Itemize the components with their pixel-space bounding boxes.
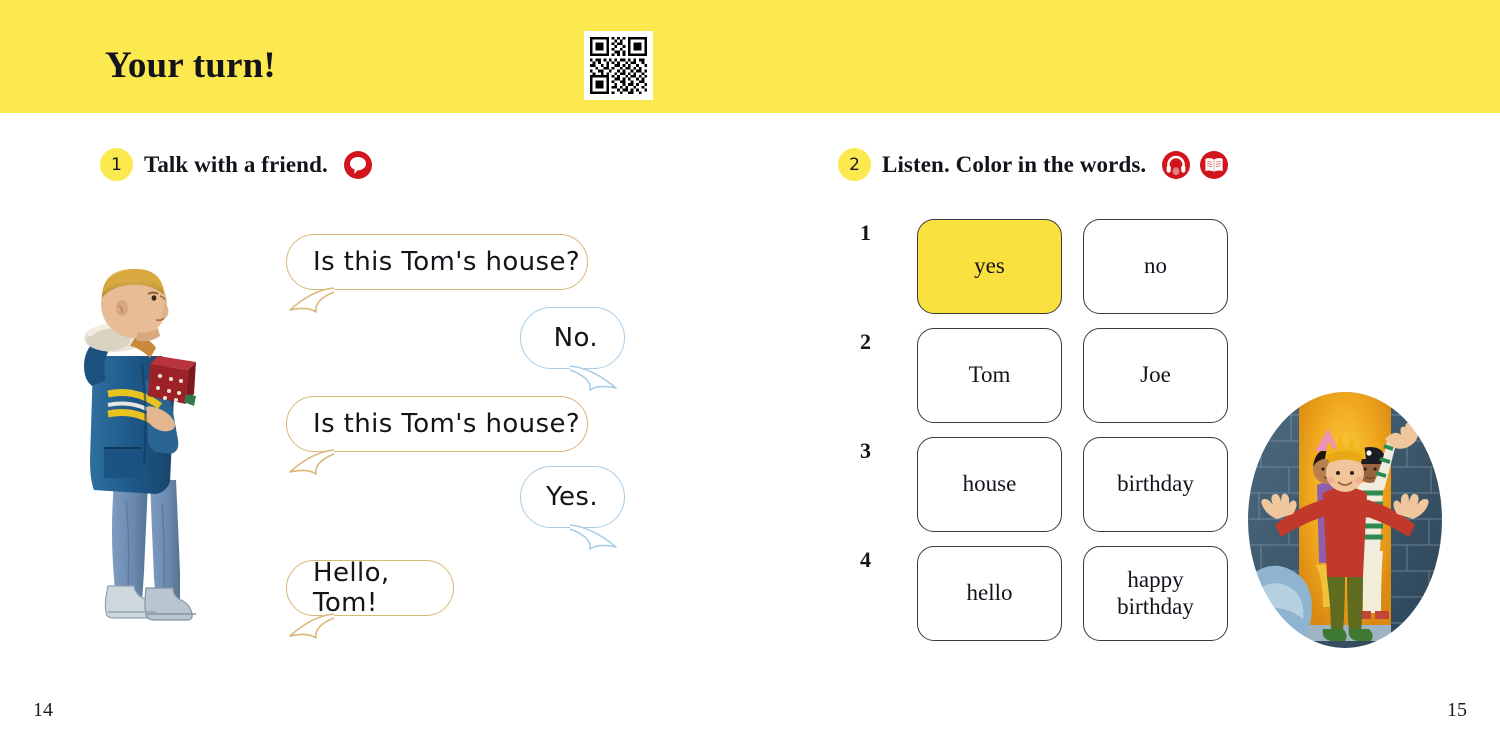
boy-with-present-illustration <box>78 268 238 636</box>
row-number: 4 <box>860 547 871 573</box>
dialogue-bubble: Is this Tom's house? <box>286 396 588 452</box>
activity-2-icons <box>1161 150 1229 180</box>
activity-1-label: Talk with a friend. <box>144 152 328 178</box>
bubble-tail-right-icon <box>556 523 626 557</box>
activity-2-number: 2 <box>838 148 871 181</box>
activity-1-number: 1 <box>100 148 133 181</box>
page-number-right: 15 <box>1447 699 1467 722</box>
row-number: 1 <box>860 220 871 246</box>
dialogue-bubble: Yes. <box>520 466 625 528</box>
dialogue-text: No. <box>554 323 598 353</box>
children-at-door-illustration <box>1245 389 1445 651</box>
dialogue-text: Hello, Tom! <box>313 558 453 618</box>
speech-bubble-icon <box>343 150 373 180</box>
page-number-left: 14 <box>33 699 53 722</box>
row-number: 2 <box>860 329 871 355</box>
bubble-tail-left-icon <box>286 448 356 482</box>
word-card[interactable]: Tom <box>917 328 1062 423</box>
word-card[interactable]: Joe <box>1083 328 1228 423</box>
activity-1-heading: 1 Talk with a friend. <box>100 148 373 181</box>
word-card[interactable]: no <box>1083 219 1228 314</box>
page-title: Your turn! <box>105 44 276 87</box>
headphones-icon <box>1161 150 1191 180</box>
dialogue-text: Yes. <box>546 482 598 512</box>
dialogue-bubble: No. <box>520 307 625 369</box>
dialogue-bubble: Hello, Tom! <box>286 560 454 616</box>
dialogue-text: Is this Tom's house? <box>313 247 580 277</box>
qr-code-icon <box>590 37 647 94</box>
word-card[interactable]: birthday <box>1083 437 1228 532</box>
word-card[interactable]: house <box>917 437 1062 532</box>
qr-code[interactable] <box>584 31 653 100</box>
activity-2-heading: 2 Listen. Color in the words. <box>838 148 1229 181</box>
activity-2-label: Listen. Color in the words. <box>882 152 1146 178</box>
open-book-icon <box>1199 150 1229 180</box>
bubble-tail-left-icon <box>286 286 356 320</box>
dialogue-text: Is this Tom's house? <box>313 409 580 439</box>
dialogue-bubble: Is this Tom's house? <box>286 234 588 290</box>
word-card[interactable]: happy birthday <box>1083 546 1228 641</box>
word-card[interactable]: yes <box>917 219 1062 314</box>
word-card[interactable]: hello <box>917 546 1062 641</box>
row-number: 3 <box>860 438 871 464</box>
bubble-tail-right-icon <box>556 364 626 398</box>
activity-1-icons <box>343 150 373 180</box>
header-band: Your turn! <box>0 0 1500 113</box>
